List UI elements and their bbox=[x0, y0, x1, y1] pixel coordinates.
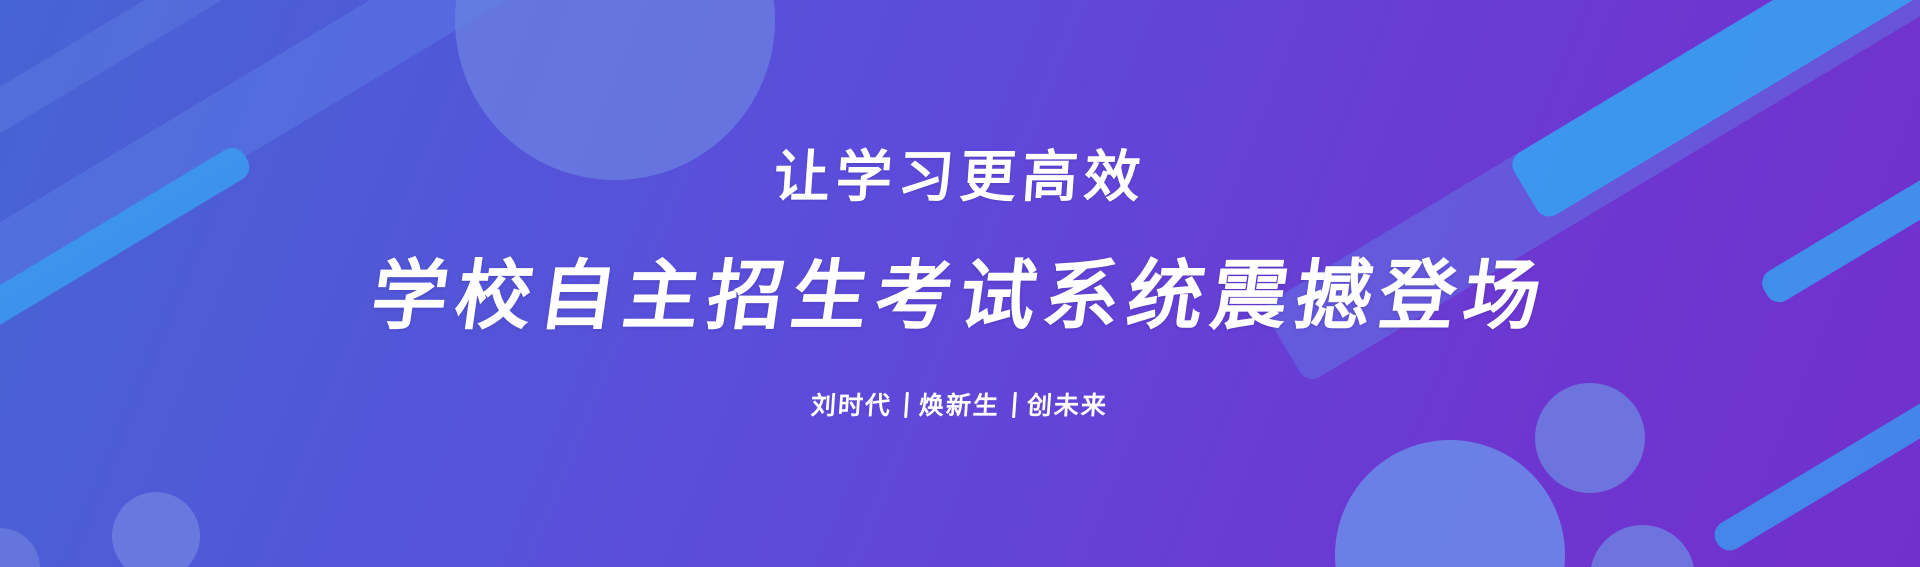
subtitle-separator-2 bbox=[1013, 392, 1018, 418]
subtitle-separator-1 bbox=[905, 392, 910, 418]
banner-text-block: 让学习更高效 学校自主招生考试系统震撼登场 刘时代 焕新生 创未来 bbox=[0, 0, 1920, 567]
headline-primary: 让学习更高效 bbox=[772, 150, 1148, 206]
subtitle-part-2: 焕新生 bbox=[917, 392, 1004, 417]
subtitle-part-1: 刘时代 bbox=[809, 392, 896, 417]
subtitle-part-3: 创未来 bbox=[1025, 392, 1112, 417]
promo-banner: 让学习更高效 学校自主招生考试系统震撼登场 刘时代 焕新生 创未来 bbox=[0, 0, 1920, 567]
headline-secondary: 学校自主招生考试系统震撼登场 bbox=[367, 258, 1554, 334]
banner-subtitle: 刘时代 焕新生 创未来 bbox=[809, 392, 1112, 418]
